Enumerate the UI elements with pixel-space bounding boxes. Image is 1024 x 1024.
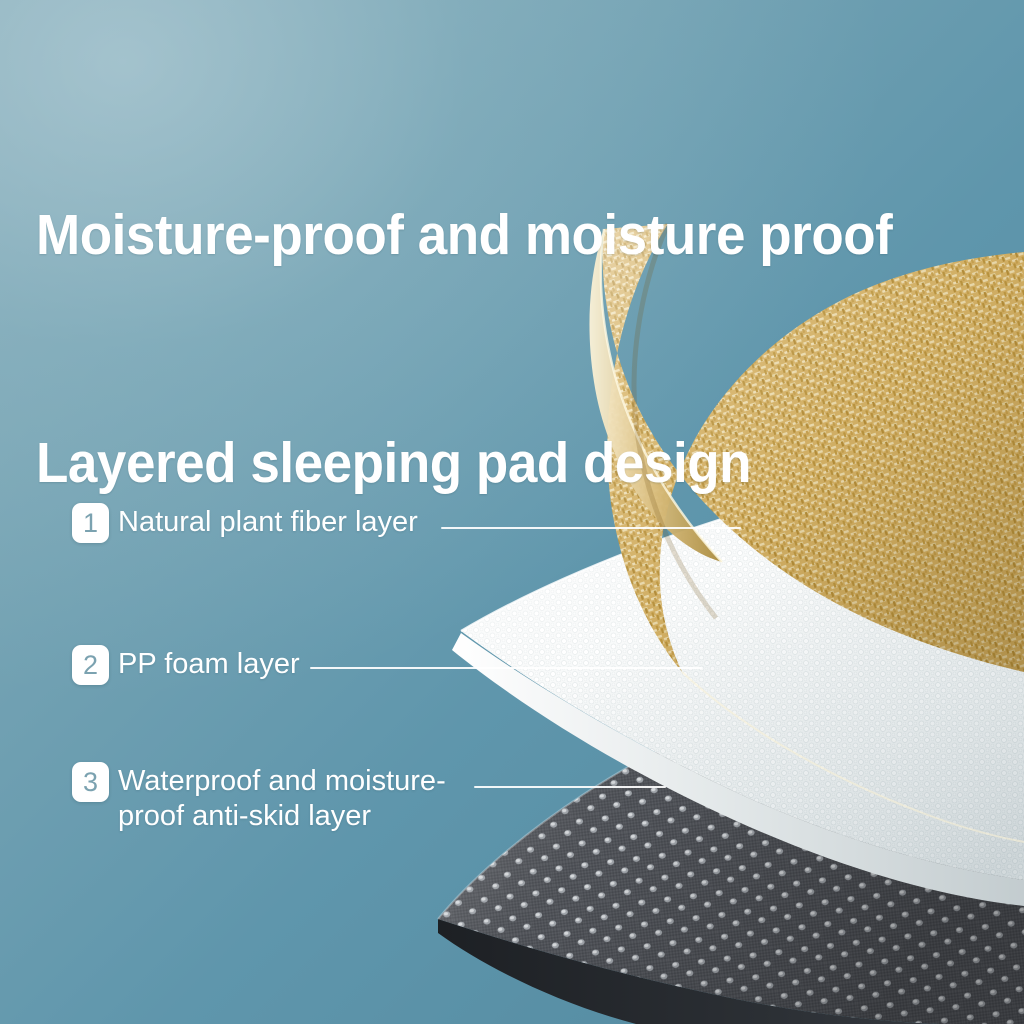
callout-badge-1: 1: [72, 503, 109, 543]
waterproof-anti-skid-layer-shape: [438, 626, 1024, 1024]
callout-pp-foam-layer: 2 PP foam layer: [72, 645, 300, 685]
callout-badge-3: 3: [72, 762, 109, 802]
page-title: Moisture-proof and moisture proof Layere…: [36, 45, 910, 653]
callout-label-2: PP foam layer: [118, 645, 300, 682]
callout-label-3: Waterproof and moisture- proof anti-skid…: [118, 762, 446, 834]
callout-natural-plant-fiber-layer: 1 Natural plant fiber layer: [72, 503, 418, 543]
callout-waterproof-anti-skid-layer: 3 Waterproof and moisture- proof anti-sk…: [72, 762, 446, 834]
infographic-canvas: Moisture-proof and moisture proof Layere…: [0, 0, 1024, 1024]
leader-line-2: [310, 667, 702, 669]
callout-badge-2: 2: [72, 645, 109, 685]
page-title-line-1: Moisture-proof and moisture proof: [36, 197, 910, 273]
page-title-line-2: Layered sleeping pad design: [36, 425, 910, 501]
leader-line-3: [474, 786, 666, 788]
callout-label-1: Natural plant fiber layer: [118, 503, 418, 540]
leader-line-1: [441, 527, 741, 529]
